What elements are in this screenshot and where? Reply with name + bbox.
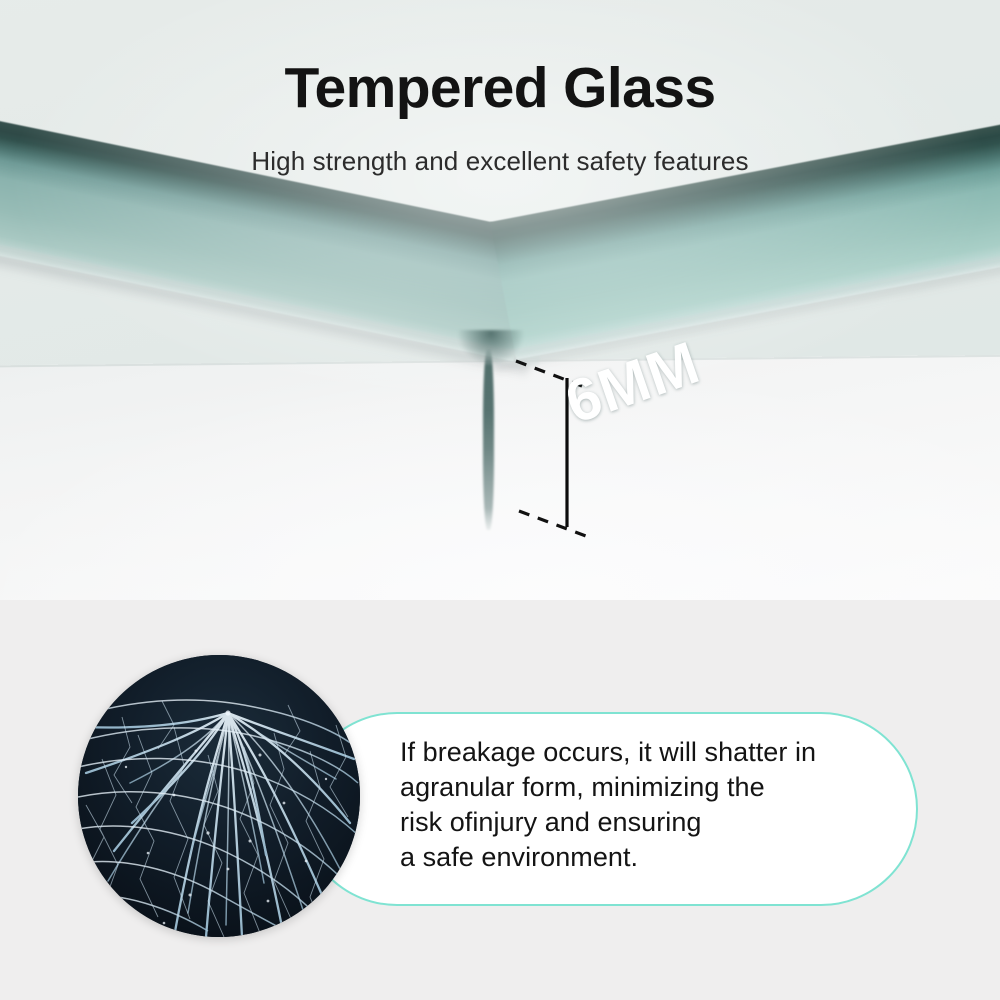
thickness-label: 6MM bbox=[557, 327, 708, 437]
infographic-page: Tempered Glass High strength and excelle… bbox=[0, 0, 1000, 1000]
glass-corner-seam bbox=[483, 348, 494, 530]
headline-block: Tempered Glass High strength and excelle… bbox=[0, 58, 1000, 177]
feature-section: If breakage occurs, it will shatter in a… bbox=[0, 600, 1000, 1000]
glass-edge-right-highlight bbox=[490, 212, 1000, 368]
hero-section: Tempered Glass High strength and excelle… bbox=[0, 0, 1000, 600]
feature-line-3: risk ofinjury and ensuring bbox=[400, 805, 920, 840]
feature-line-4: a safe environment. bbox=[400, 840, 920, 875]
glass-edge-left-highlight bbox=[0, 163, 540, 370]
feature-line-2: agranular form, minimizing the bbox=[400, 770, 920, 805]
page-title: Tempered Glass bbox=[0, 58, 1000, 120]
glass-shadow-left bbox=[0, 169, 530, 380]
glass-shadow-right bbox=[492, 217, 1000, 375]
glass-corner-bevel bbox=[458, 330, 524, 364]
shattered-glass-texture bbox=[78, 655, 360, 937]
feature-description: If breakage occurs, it will shatter in a… bbox=[400, 735, 920, 875]
page-subtitle: High strength and excellent safety featu… bbox=[0, 146, 1000, 177]
feature-line-1: If breakage occurs, it will shatter in bbox=[400, 735, 920, 770]
shattered-glass-image bbox=[78, 655, 360, 937]
